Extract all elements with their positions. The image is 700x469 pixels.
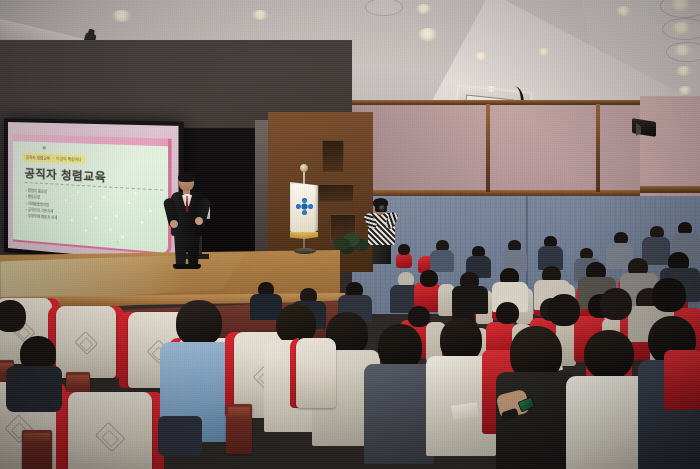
audience-body <box>6 366 62 412</box>
stage-light-column <box>255 120 269 260</box>
wall-speaker-icon <box>632 118 656 137</box>
slide-marker-dot <box>43 146 46 149</box>
slide: 공직자 청렴교육 ・ 이것이 핵심이다 공직자 청렴교육 청렴의 중요성 행동강… <box>13 134 172 255</box>
auditorium-photo: 공직자 청렴교육 ・ 이것이 핵심이다 공직자 청렴교육 청렴의 중요성 행동강… <box>0 0 700 469</box>
presenter-right-hand <box>195 217 203 225</box>
flag-emblem-icon <box>296 198 313 215</box>
audience-head <box>652 278 686 312</box>
potted-plant <box>334 228 368 254</box>
wood-wall-recess <box>322 140 344 172</box>
downlight <box>676 66 692 76</box>
slide-top-accent-bar <box>13 134 168 146</box>
audience-head <box>398 244 410 255</box>
projection-screen: 공직자 청렴교육 ・ 이것이 핵심이다 공직자 청렴교육 청렴의 중요성 행동강… <box>8 122 179 264</box>
flag-stand <box>294 248 316 254</box>
camera-icon <box>375 204 387 212</box>
audience-lap <box>158 416 202 456</box>
seat[interactable] <box>664 350 700 410</box>
downlight <box>418 28 438 41</box>
slide-page-number: 1 <box>117 240 119 244</box>
audience-head <box>496 302 519 324</box>
presenter-left-hand <box>170 220 178 228</box>
seat-logo-icon <box>95 422 125 452</box>
downlight <box>112 10 132 22</box>
downlight <box>678 86 692 95</box>
seat-logo-icon <box>74 331 98 355</box>
downlight <box>674 45 692 56</box>
audience-head <box>420 270 438 287</box>
right-wall-trim <box>640 186 700 193</box>
audience-head <box>0 300 26 332</box>
audience-head <box>600 288 632 320</box>
audience-head <box>584 330 634 380</box>
photographer <box>366 200 398 264</box>
slide-subtitle-highlight: 공직자 청렴교육 <box>26 155 51 161</box>
downlight <box>252 10 269 20</box>
downlight <box>616 6 632 16</box>
downlight <box>416 4 432 14</box>
seat-empty[interactable] <box>56 306 116 378</box>
slide-bullet: 부정부패 예방과 사례 <box>26 212 58 222</box>
slide-decorative-dots <box>58 185 161 243</box>
wood-wall-recess <box>318 184 354 202</box>
audience-body <box>364 364 434 464</box>
slide-subtitle: 공직자 청렴교육 ・ 이것이 핵심이다 <box>23 153 85 164</box>
seat-back <box>68 392 152 469</box>
back-wall-vertical-trim <box>596 104 600 192</box>
seat-empty[interactable] <box>68 392 152 469</box>
back-wall-vertical-trim <box>486 104 490 192</box>
slide-bullet-list: 청렴의 중요성 행동강령 이해충돌방지법 공직자의 기본자세 부정부패 예방과 … <box>26 187 58 221</box>
seat-armrest <box>22 430 52 469</box>
seat-armrest <box>226 404 252 454</box>
audience-body <box>430 250 454 272</box>
presenter-shoes <box>173 264 201 269</box>
audience-head <box>176 300 222 346</box>
presenter <box>165 174 209 270</box>
seat-back <box>296 338 336 408</box>
presenter-hair <box>178 172 195 182</box>
audience-head <box>548 294 580 326</box>
downlight <box>538 48 550 56</box>
presenter-legs <box>174 233 200 266</box>
flag-finial <box>300 164 308 172</box>
photographer-legs <box>372 243 391 264</box>
downlight <box>474 52 488 61</box>
audience-head <box>408 306 430 327</box>
seat[interactable] <box>296 338 336 408</box>
slide-subtitle-rest: ・ 이것이 핵심이다 <box>50 156 81 162</box>
seat-back <box>56 306 116 378</box>
downlight <box>672 22 692 34</box>
